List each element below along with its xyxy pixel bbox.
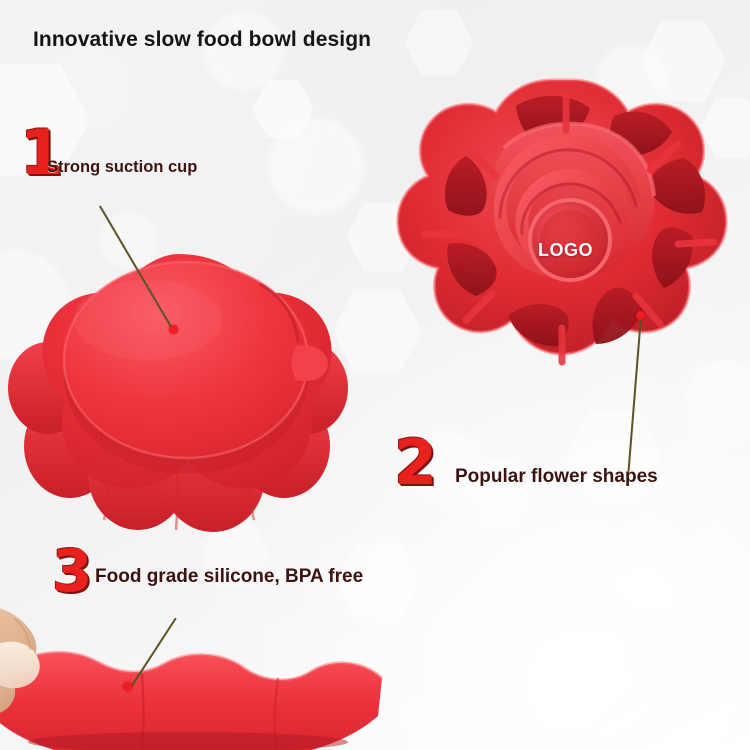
feature-label-3: Food grade silicone, BPA free bbox=[95, 566, 363, 588]
bowl-hand-flex bbox=[0, 600, 392, 750]
bowl-underside-suction bbox=[8, 248, 358, 538]
rose-bowl-top-view bbox=[392, 72, 750, 402]
feature-number-3: 3 bbox=[52, 542, 92, 600]
anchor-dot-2 bbox=[636, 311, 645, 320]
product-logo-text: LOGO bbox=[538, 240, 593, 261]
feature-number-2: 2 bbox=[394, 432, 437, 494]
anchor-dot-3 bbox=[123, 682, 132, 691]
infographic-canvas: LOGO bbox=[0, 0, 750, 750]
anchor-dot-1 bbox=[169, 325, 178, 334]
feature-label-1: Strong suction cup bbox=[47, 158, 197, 177]
page-title: Innovative slow food bowl design bbox=[33, 28, 371, 52]
